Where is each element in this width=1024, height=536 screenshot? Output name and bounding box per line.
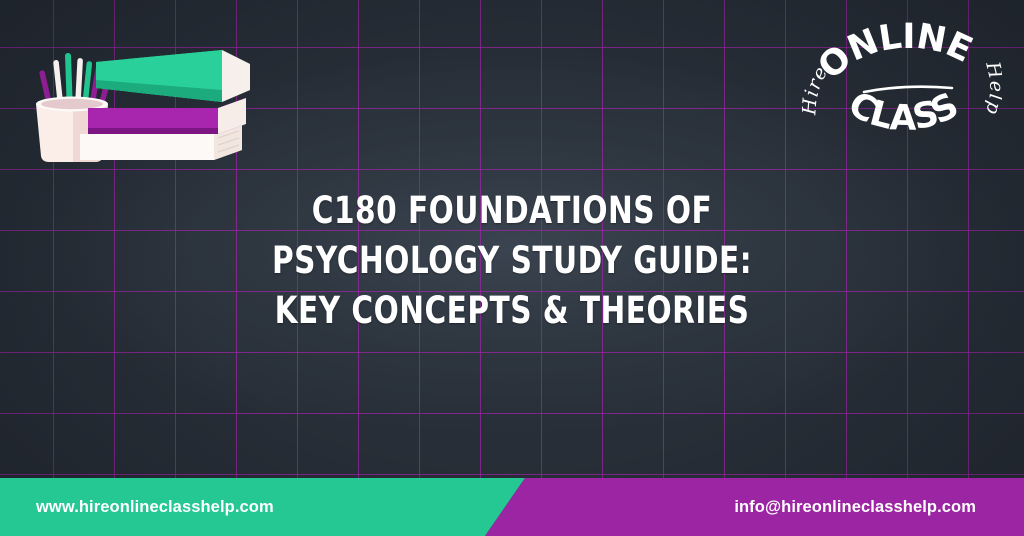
- logo-class-text: CLASS: [841, 84, 964, 139]
- logo-help-text: Help: [981, 59, 1002, 118]
- brand-logo[interactable]: Hire ONLINE CLASS Help: [802, 22, 1002, 140]
- hire-online-class-help-logo-icon: Hire ONLINE CLASS Help: [802, 22, 1002, 140]
- page-title-line-3: Key Concepts & Theories: [102, 286, 921, 336]
- page-title-line-1: C180 Foundations of: [102, 186, 921, 236]
- page-title: C180 Foundations of Psychology Study Gui…: [102, 186, 921, 336]
- footer-website-link[interactable]: www.hireonlineclasshelp.com: [36, 478, 274, 536]
- book-top: [96, 50, 250, 102]
- blog-banner: Hire ONLINE CLASS Help C180 Foundations …: [0, 0, 1024, 536]
- footer-bar: www.hireonlineclasshelp.com info@hireonl…: [0, 478, 1024, 536]
- books-and-pencil-cup-icon: [18, 28, 258, 163]
- footer-email-link[interactable]: info@hireonlineclasshelp.com: [734, 478, 976, 536]
- logo-online-text: ONLINE: [811, 22, 978, 87]
- book-middle: [88, 98, 246, 134]
- page-title-line-2: Psychology Study Guide:: [102, 236, 921, 286]
- books-illustration: [18, 28, 258, 163]
